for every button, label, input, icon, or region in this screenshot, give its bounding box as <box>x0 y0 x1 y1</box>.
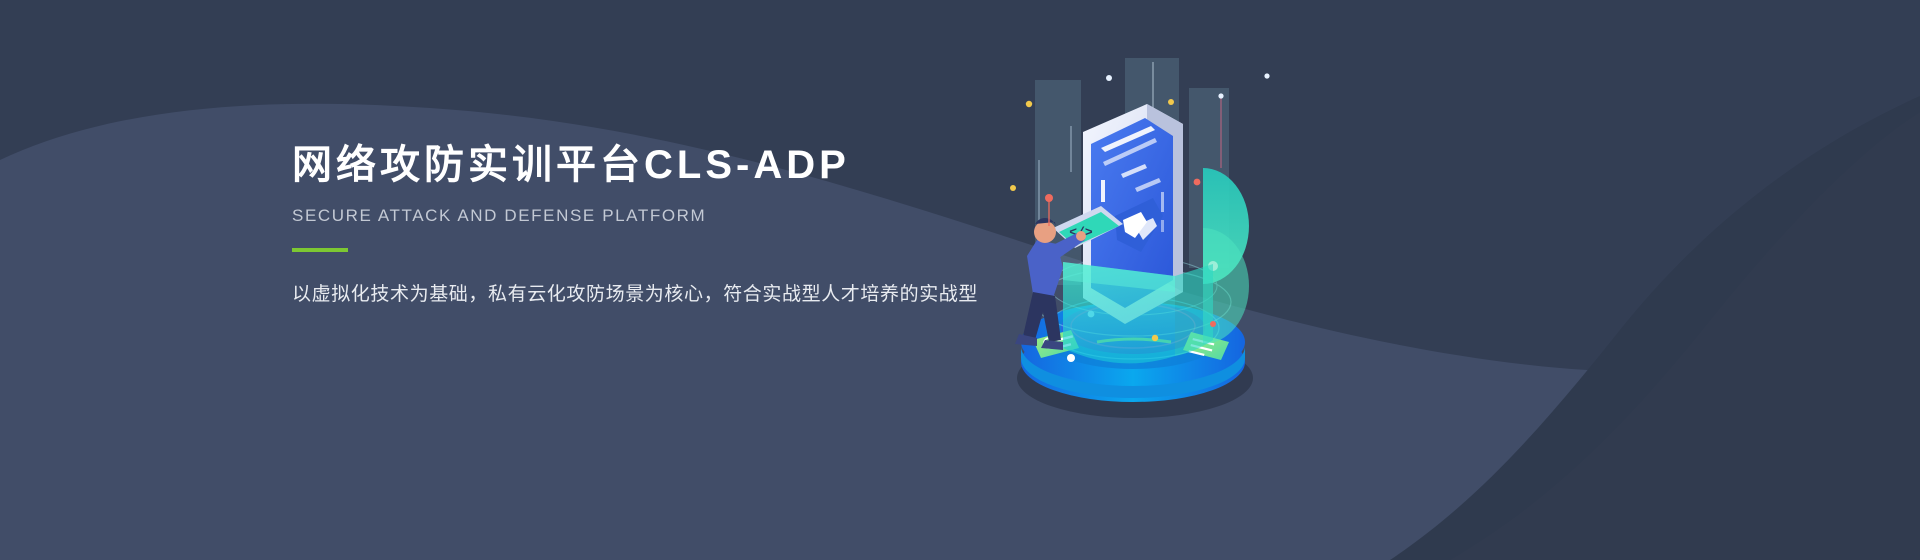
hero-text-block: 网络攻防实训平台CLS-ADP SECURE ATTACK AND DEFENS… <box>292 140 1052 310</box>
shield-band <box>1063 262 1213 363</box>
page-title: 网络攻防实训平台CLS-ADP <box>292 140 1052 190</box>
page-subtitle: SECURE ATTACK AND DEFENSE PLATFORM <box>292 206 1052 226</box>
page-description: 以虚拟化技术为基础，私有云化攻防场景为核心，符合实战型人才培养的实战型 <box>292 280 1052 310</box>
accent-divider <box>292 248 348 252</box>
hero-banner: 网络攻防实训平台CLS-ADP SECURE ATTACK AND DEFENS… <box>0 0 1920 560</box>
